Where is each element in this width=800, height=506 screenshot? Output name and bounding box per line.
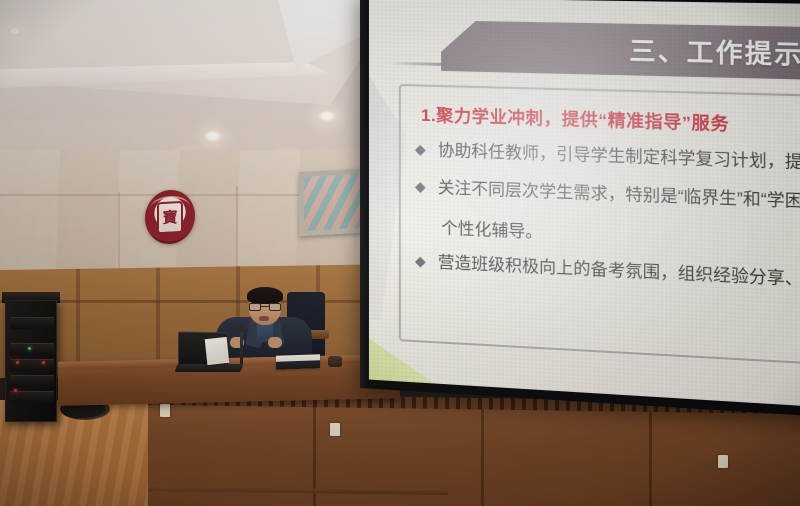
slide-title-banner: 三、工作提示 [441,20,800,80]
diamond-bullet-icon: ◆ [415,139,426,161]
list-item-text: 关注不同层次学生需求，特别是“临界生”和“学困生 [438,177,800,216]
banner-connector-line [389,62,445,66]
presenter-hand-right [268,337,282,348]
list-item-continuation: 个性化辅导。 [441,214,800,256]
screen-surface: 三、工作提示 1.聚力学业冲刺，提供“精准指导”服务 ◆ 协助科任教师，引导学生… [369,0,800,408]
desk-object [328,356,342,367]
wall-outlet [330,423,340,436]
av-equipment-rack [5,300,57,422]
list-item: ◆ 关注不同层次学生需求，特别是“临界生”和“学困生 [415,176,800,217]
presenter-hair [247,287,283,304]
ceiling-downlight [8,27,22,36]
microphone-stand [240,330,243,364]
rack-status-led [16,361,19,364]
laptop-keyboard [174,364,243,372]
screen-bezel-left [360,0,369,389]
presentation-slide: 三、工作提示 1.聚力学业冲刺，提供“精准指导”服务 ◆ 协助科任教师，引导学生… [369,0,800,408]
diamond-bullet-icon: ◆ [415,176,426,198]
rack-status-led [14,389,17,392]
open-notebook [276,354,320,370]
rack-status-led [42,361,45,364]
ceiling-downlight [204,131,222,142]
presenter-mouth [259,316,269,321]
wall-outlet [160,404,170,417]
handheld-papers [205,337,230,365]
wall-outlet [718,455,728,468]
screenshot-root: 寶 [0,0,800,506]
projection-screen: 三、工作提示 1.聚力学业冲刺，提供“精准指导”服务 ◆ 协助科任教师，引导学生… [360,0,800,417]
diamond-bullet-icon: ◆ [415,250,426,272]
microphone-icon [236,324,245,333]
presenter [216,291,312,363]
emblem-character: 寶 [157,201,183,234]
slide-bullet-list: ◆ 协助科任教师，引导学生制定科学复习计划，提高 ◆ 关注不同层次学生需求，特别… [415,139,800,310]
rack-status-led [28,347,31,350]
list-item: ◆ 营造班级积极向上的备考氛围，组织经验分享、1 [415,250,800,295]
list-item-text: 营造班级积极向上的备考氛围，组织经验分享、1 [438,251,800,293]
eyeglasses-icon [249,303,281,311]
ceiling-downlight [318,111,336,122]
slide-title: 三、工作提示 [629,31,800,72]
